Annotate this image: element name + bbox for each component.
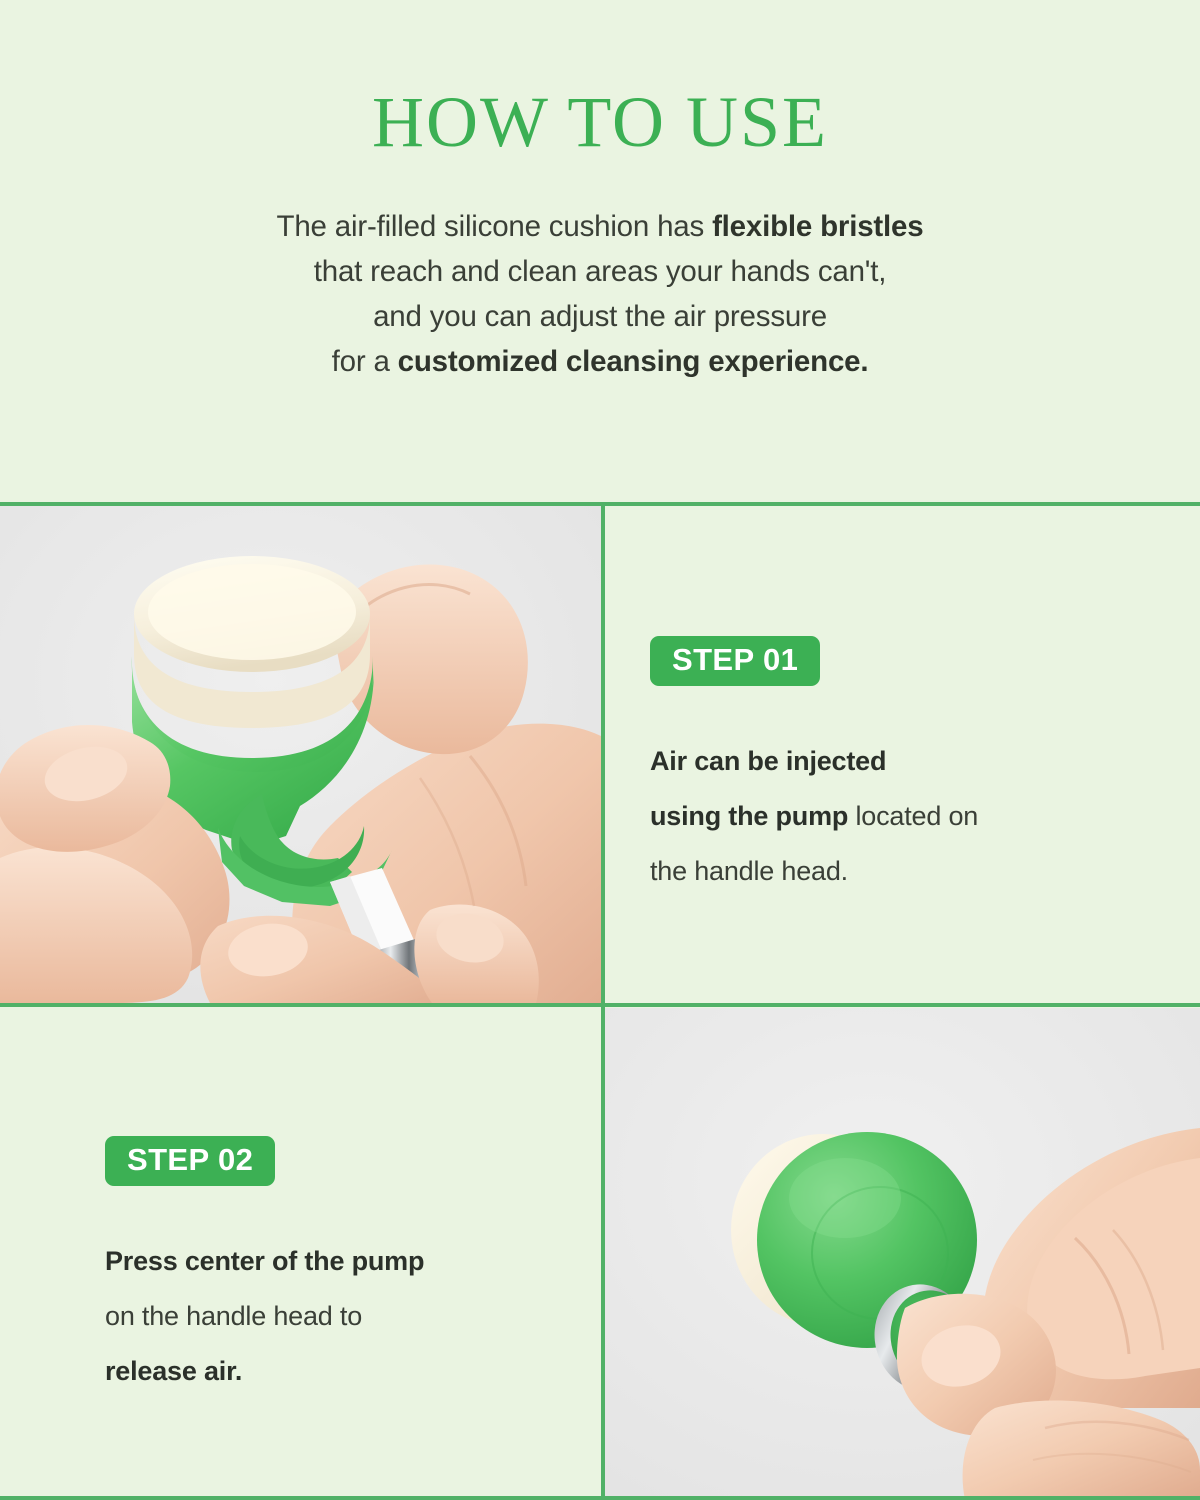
intro-line-4: for a customized cleansing experience. — [332, 345, 869, 378]
step-01-description: Air can be injected using the pump locat… — [650, 686, 978, 899]
divider-middle — [0, 1003, 1200, 1007]
intro-emphasis-experience: customized cleansing experience. — [398, 345, 869, 378]
step-01-block: STEP 01 Air can be injected using the pu… — [650, 636, 978, 899]
intro-line-1: The air-filled silicone cushion has flex… — [277, 210, 924, 243]
step-01-photo — [0, 506, 601, 1003]
step-02-line-1: Press center of the pump — [105, 1246, 424, 1276]
step-02-description: Press center of the pump on the handle h… — [105, 1186, 424, 1399]
step-01-line-3: the handle head. — [650, 856, 848, 886]
intro-paragraph: The air-filled silicone cushion has flex… — [0, 158, 1200, 384]
step-02-line-3: release air. — [105, 1356, 242, 1386]
page-title: HOW TO USE — [0, 86, 1200, 158]
step-02-photo — [605, 1008, 1200, 1500]
step-02-block: STEP 02 Press center of the pump on the … — [105, 1136, 424, 1399]
intro-line-1-text: The air-filled silicone cushion has — [277, 210, 713, 243]
step-02-badge: STEP 02 — [105, 1136, 275, 1186]
divider-top — [0, 502, 1200, 506]
intro-emphasis-bristles: flexible bristles — [712, 210, 923, 243]
hand-holding-device-illustration — [0, 506, 601, 1003]
header-section: HOW TO USE The air-filled silicone cushi… — [0, 0, 1200, 506]
intro-line-3: and you can adjust the air pressure — [373, 300, 827, 333]
hand-pressing-pump-illustration — [605, 1008, 1200, 1500]
steps-grid: STEP 01 Air can be injected using the pu… — [0, 506, 1200, 1500]
step-02-text-cell: STEP 02 Press center of the pump on the … — [0, 1008, 601, 1500]
step-01-line-2-rest: located on — [848, 801, 978, 831]
step-01-line-2-bold: using the pump — [650, 801, 848, 831]
step-01-text-cell: STEP 01 Air can be injected using the pu… — [605, 506, 1200, 1003]
step-01-line-1: Air can be injected — [650, 746, 886, 776]
intro-line-2: that reach and clean areas your hands ca… — [314, 255, 886, 288]
divider-vertical — [601, 506, 605, 1500]
step-02-line-2: on the handle head to — [105, 1301, 362, 1331]
intro-line-4-text: for a — [332, 345, 398, 378]
step-01-badge: STEP 01 — [650, 636, 820, 686]
divider-bottom — [0, 1496, 1200, 1500]
